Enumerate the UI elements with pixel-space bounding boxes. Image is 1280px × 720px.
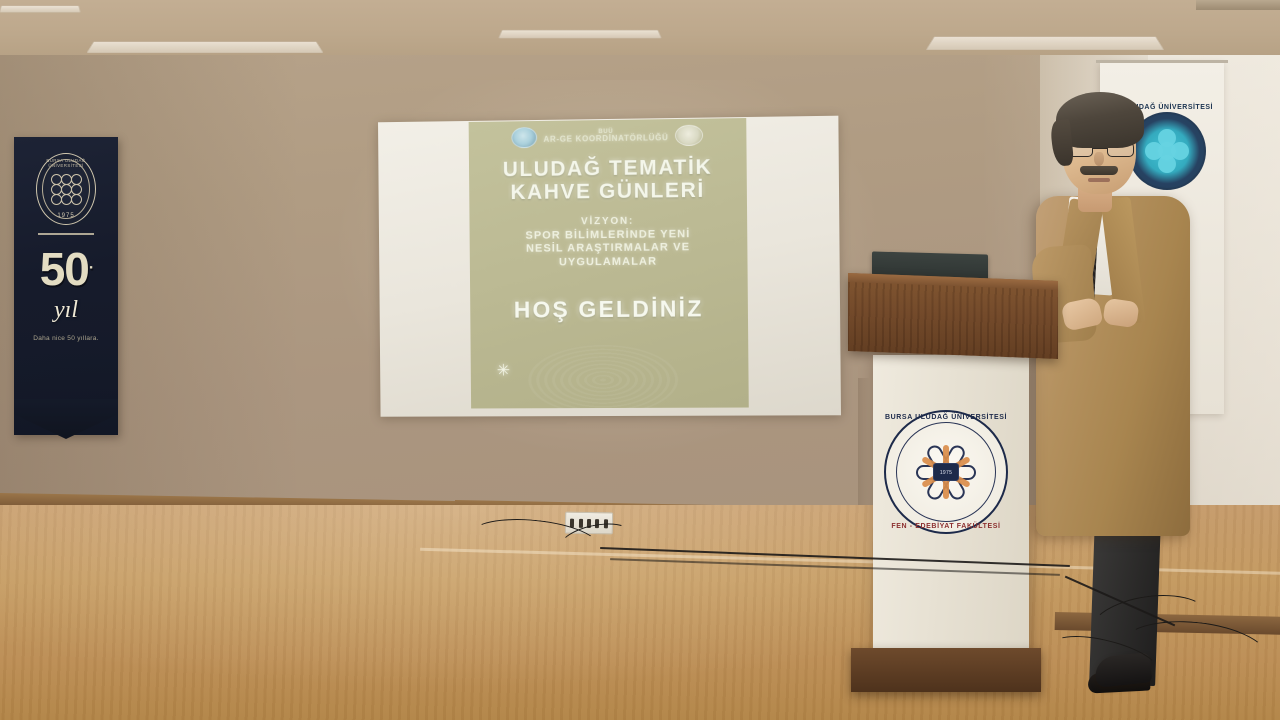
ceiling-light-panel-4 [0,6,81,13]
lectern-base [851,648,1041,692]
banner-divider [38,233,94,235]
slide-header-text: BUÜ AR-GE KOORDİNATÖRLÜĞÜ [543,128,668,144]
slide-welcome-text: HOŞ GELDİNİZ [470,295,748,324]
projection-screen: BUÜ AR-GE KOORDİNATÖRLÜĞÜ ULUDAĞ TEMATİK… [378,116,841,417]
slide-vision-line3: UYGULAMALAR [470,255,748,271]
seal-rosette-icon [51,174,81,204]
slide-vision-block: VİZYON: SPOR BİLİMLERİNDE YENİ NESİL ARA… [469,215,747,271]
conference-photo: BURSA ULUDAĞ ÜNİVERSİTESİ 1975 50. yıl D… [0,0,1280,720]
banner-top-rod [1096,60,1228,63]
emblem-faculty-label: FEN - EDEBİYAT FAKÜLTESİ [884,523,1008,530]
ceiling-light-panel-1 [86,41,323,53]
university-seal-icon: BURSA ULUDAĞ ÜNİVERSİTESİ 1975 [36,153,96,225]
anniversary-number: 50. [14,249,118,290]
speaker-hand-right [1102,298,1139,328]
left-roll-up-banner: BURSA ULUDAĞ ÜNİVERSİTESİ 1975 50. yıl D… [14,137,118,435]
slide-left-logo-icon [512,127,538,148]
emblem-core: 1975 [933,463,959,481]
projected-slide: BUÜ AR-GE KOORDİNATÖRLÜĞÜ ULUDAĞ TEMATİK… [469,118,749,408]
ceiling-vent [1196,0,1280,10]
ceiling-light-panel-2 [498,30,662,38]
emblem-core-label: 1975 [934,464,958,482]
slide-title-line2: KAHVE GÜNLERİ [469,179,747,205]
seal-year-label: 1975 [37,213,95,219]
slide-header: BUÜ AR-GE KOORDİNATÖRLÜĞÜ [469,124,747,149]
speaker-mustache [1080,166,1118,175]
slide-title: ULUDAĞ TEMATİK KAHVE GÜNLERİ [469,156,747,205]
ceiling-light-panel-3 [926,36,1165,50]
slide-title-line1: ULUDAĞ TEMATİK [469,156,747,182]
slide-header-line2: AR-GE KOORDİNATÖRLÜĞÜ [543,135,668,145]
emblem-university-label: BURSA ULUDAĞ ÜNİVERSİTESİ [884,414,1008,421]
slide-right-seal-icon [674,125,702,146]
sparkle-icon: ✳ [496,365,510,379]
anniversary-word: yıl [14,297,118,324]
banner-tagline: Daha nice 50 yıllara. [14,335,118,342]
speaker-mouth [1088,178,1110,182]
faculty-emblem-icon: 1975 BURSA ULUDAĞ ÜNİVERSİTESİ FEN - EDE… [884,410,1008,534]
